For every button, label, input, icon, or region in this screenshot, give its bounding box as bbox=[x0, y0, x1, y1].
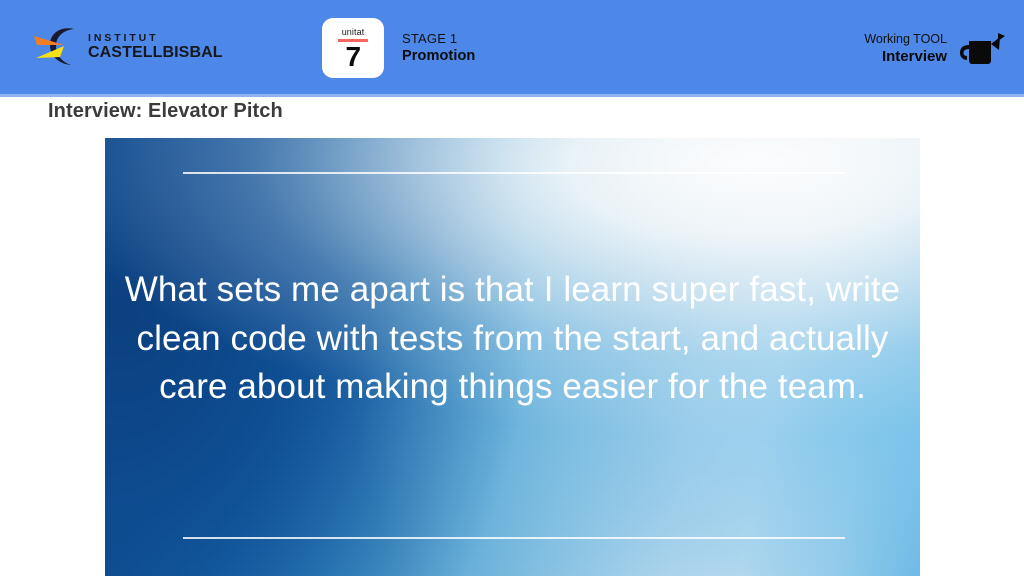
logo-wordmark: INSTITUT CASTELLBISBAL bbox=[88, 33, 223, 61]
logo-line-castellbisbal: CASTELLBISBAL bbox=[88, 45, 223, 61]
working-tool-group: Working TOOL Interview bbox=[864, 28, 1006, 70]
stage-label: STAGE 1 bbox=[402, 30, 475, 47]
unit-badge-label: unitat bbox=[342, 28, 365, 37]
stage-name: Promotion bbox=[402, 47, 475, 66]
watering-can-icon bbox=[958, 28, 1006, 70]
institute-logo[interactable]: INSTITUT CASTELLBISBAL bbox=[30, 26, 223, 68]
page-title: Interview: Elevator Pitch bbox=[48, 100, 283, 123]
institut-castellbisbal-logo-icon bbox=[30, 26, 82, 68]
stage-info: STAGE 1 Promotion bbox=[402, 30, 475, 66]
logo-line-institut: INSTITUT bbox=[88, 33, 223, 44]
unit-stage-group: unitat 7 STAGE 1 Promotion bbox=[322, 18, 475, 78]
unit-badge-number: 7 bbox=[345, 43, 360, 71]
elevator-pitch-card: What sets me apart is that I learn super… bbox=[105, 138, 920, 576]
unit-badge[interactable]: unitat 7 bbox=[322, 18, 384, 78]
working-tool-name: Interview bbox=[864, 47, 947, 67]
card-rule-bottom bbox=[183, 537, 845, 539]
elevator-pitch-text: What sets me apart is that I learn super… bbox=[119, 266, 906, 412]
slide-root: INSTITUT CASTELLBISBAL unitat 7 STAGE 1 … bbox=[0, 0, 1024, 576]
working-tool-label: Working TOOL bbox=[864, 31, 947, 47]
working-tool-text: Working TOOL Interview bbox=[864, 31, 947, 67]
header-underline bbox=[0, 94, 1024, 97]
card-rule-top bbox=[183, 172, 845, 174]
